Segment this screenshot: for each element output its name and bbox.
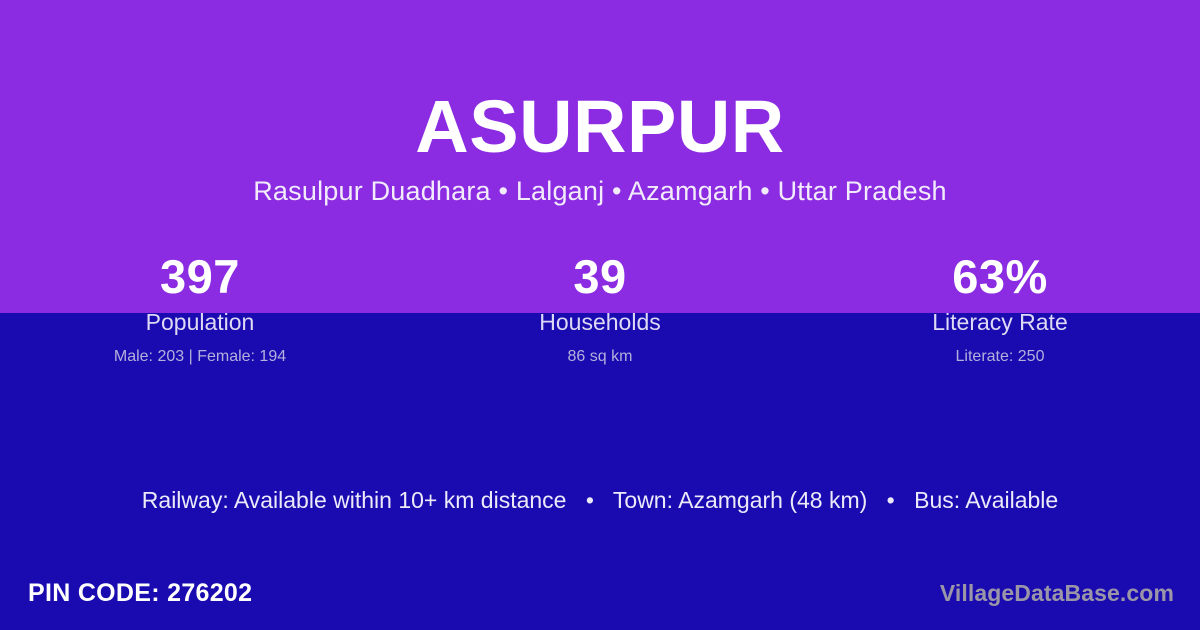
card-footer: PIN CODE: 276202 VillageDataBase.com [0, 572, 1200, 614]
infrastructure-bus: Bus: Available [914, 487, 1058, 513]
location-breadcrumb: Rasulpur Duadhara • Lalganj • Azamgarh •… [0, 170, 1200, 208]
pin-code-label: PIN CODE: 276202 [28, 572, 252, 614]
stat-households-value: 39 [400, 249, 800, 305]
stat-literacy: 63% Literacy Rate Literate: 250 [800, 249, 1200, 368]
stat-literacy-label: Literacy Rate [800, 305, 1200, 337]
stat-population-breakdown: Male: 203 | Female: 194 [0, 337, 400, 368]
infrastructure-railway: Railway: Available within 10+ km distanc… [142, 487, 567, 513]
stat-households: 39 Households 86 sq km [400, 249, 800, 368]
stat-population: 397 Population Male: 203 | Female: 194 [0, 249, 400, 368]
statistics-row: 397 Population Male: 203 | Female: 194 3… [0, 249, 1200, 368]
bullet-separator-icon: • [573, 485, 607, 515]
stat-households-label: Households [400, 305, 800, 337]
stat-households-area: 86 sq km [400, 337, 800, 368]
bullet-separator-icon: • [874, 485, 908, 515]
site-brand-label: VillageDataBase.com [940, 572, 1174, 614]
stat-population-value: 397 [0, 249, 400, 305]
stat-literacy-count: Literate: 250 [800, 337, 1200, 368]
infrastructure-row: Railway: Available within 10+ km distanc… [0, 485, 1200, 515]
village-name-title: ASURPUR [0, 0, 1200, 170]
village-info-card: ASURPUR Rasulpur Duadhara • Lalganj • Az… [0, 0, 1200, 630]
card-header: ASURPUR Rasulpur Duadhara • Lalganj • Az… [0, 0, 1200, 208]
stat-population-label: Population [0, 305, 400, 337]
infrastructure-town: Town: Azamgarh (48 km) [613, 487, 867, 513]
stat-literacy-value: 63% [800, 249, 1200, 305]
